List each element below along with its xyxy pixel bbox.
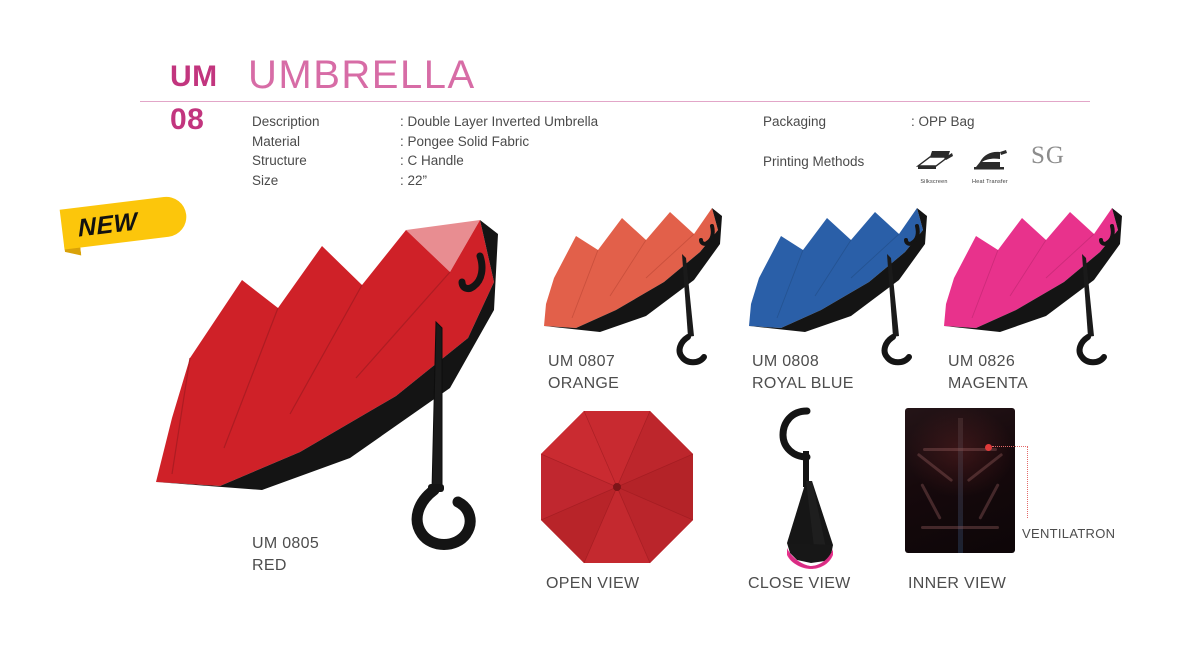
- spec-value: : Double Layer Inverted Umbrella: [400, 112, 598, 132]
- inner-view-rib: [920, 483, 941, 520]
- inner-view-rib: [967, 453, 1004, 482]
- c-handle-magenta: [1080, 337, 1104, 362]
- product-label-royal-blue: UM 0808 ROYAL BLUE: [752, 351, 854, 395]
- spec-label: Size: [252, 171, 400, 191]
- header-divider: [140, 101, 1090, 102]
- spec-label: Material: [252, 132, 400, 152]
- heat-transfer-icon: [967, 148, 1013, 172]
- ventilatron-label: VENTILATRON: [1022, 526, 1115, 541]
- printing-method-icons: Silkscreen Heat Transfer SG: [911, 148, 1065, 193]
- page-title: UMBRELLA: [248, 55, 476, 95]
- inner-view-rib: [978, 483, 999, 520]
- canopy-royal-blue: [749, 208, 927, 332]
- spec-value: : C Handle: [400, 151, 464, 171]
- packaging-value: : OPP Bag: [911, 112, 975, 132]
- spec-row-structure: Structure : C Handle: [252, 151, 598, 171]
- umbrella-figure-orange: [542, 196, 732, 346]
- product-color-name: RED: [252, 557, 287, 574]
- product-color-name: ROYAL BLUE: [752, 375, 854, 392]
- ventilatron-leader-line-vertical: [1027, 446, 1028, 518]
- product-color-name: ORANGE: [548, 375, 619, 392]
- ventilatron-marker-icon: [985, 444, 992, 451]
- umbrella-figure-magenta: [942, 196, 1132, 346]
- inner-view-rib: [917, 453, 954, 482]
- product-code: UM 0805: [252, 535, 319, 552]
- sg-brand-mark: SG: [1031, 146, 1065, 166]
- open-view-canopy: [541, 411, 693, 563]
- spec-row-packaging: Packaging : OPP Bag: [763, 112, 1065, 132]
- spec-label: Structure: [252, 151, 400, 171]
- spec-value: : 22”: [400, 171, 427, 191]
- spec-row-material: Material : Pongee Solid Fabric: [252, 132, 598, 152]
- spec-row-size: Size : 22”: [252, 171, 598, 191]
- view-label-close: CLOSE VIEW: [748, 575, 851, 593]
- product-code: UM 0826: [948, 353, 1015, 370]
- product-code-prefix: UM: [170, 62, 218, 92]
- inner-view-shaft: [958, 418, 963, 553]
- c-handle-royal-blue: [885, 337, 909, 362]
- specification-list: Description : Double Layer Inverted Umbr…: [252, 112, 598, 190]
- product-label-red: UM 0805 RED: [252, 533, 319, 577]
- inner-view-rib: [921, 526, 999, 529]
- umbrella-figure-close-view: [767, 403, 867, 568]
- close-view-canopy: [787, 481, 833, 569]
- c-handle-red: [417, 490, 470, 545]
- product-code-number: 08: [170, 105, 204, 135]
- canopy-magenta: [944, 208, 1122, 332]
- canopy-orange: [544, 208, 722, 332]
- view-label-open: OPEN VIEW: [546, 575, 639, 593]
- product-color-name: MAGENTA: [948, 375, 1028, 392]
- umbrella-figure-royal-blue: [747, 196, 937, 346]
- canopy-red: [156, 220, 498, 490]
- umbrella-figure-inner-view: [905, 408, 1015, 553]
- product-code: UM 0808: [752, 353, 819, 370]
- close-view-handle: [783, 411, 809, 487]
- c-handle-orange: [680, 337, 704, 362]
- silkscreen-caption: Silkscreen: [911, 173, 957, 193]
- spec-label: Description: [252, 112, 400, 132]
- heat-transfer-caption: Heat Transfer: [967, 173, 1013, 193]
- packaging-label: Packaging: [763, 112, 911, 132]
- spec-row-description: Description : Double Layer Inverted Umbr…: [252, 112, 598, 132]
- spec-row-printing: Printing Methods Silkscreen: [763, 152, 1065, 193]
- spec-value: : Pongee Solid Fabric: [400, 132, 529, 152]
- ventilatron-leader-line-horizontal: [992, 446, 1028, 447]
- product-label-magenta: UM 0826 MAGENTA: [948, 351, 1028, 395]
- silkscreen-icon: [911, 148, 957, 172]
- printing-methods-label: Printing Methods: [763, 152, 911, 172]
- umbrella-figure-red: [150, 190, 500, 550]
- view-label-inner: INNER VIEW: [908, 575, 1006, 593]
- product-code: UM 0807: [548, 353, 615, 370]
- product-label-orange: UM 0807 ORANGE: [548, 351, 619, 395]
- silkscreen-method: Silkscreen: [911, 148, 957, 193]
- heat-transfer-method: Heat Transfer: [967, 148, 1013, 193]
- catalog-page: UM 08 UMBRELLA Description : Double Laye…: [0, 0, 1200, 648]
- umbrella-figure-open-view: [537, 407, 697, 567]
